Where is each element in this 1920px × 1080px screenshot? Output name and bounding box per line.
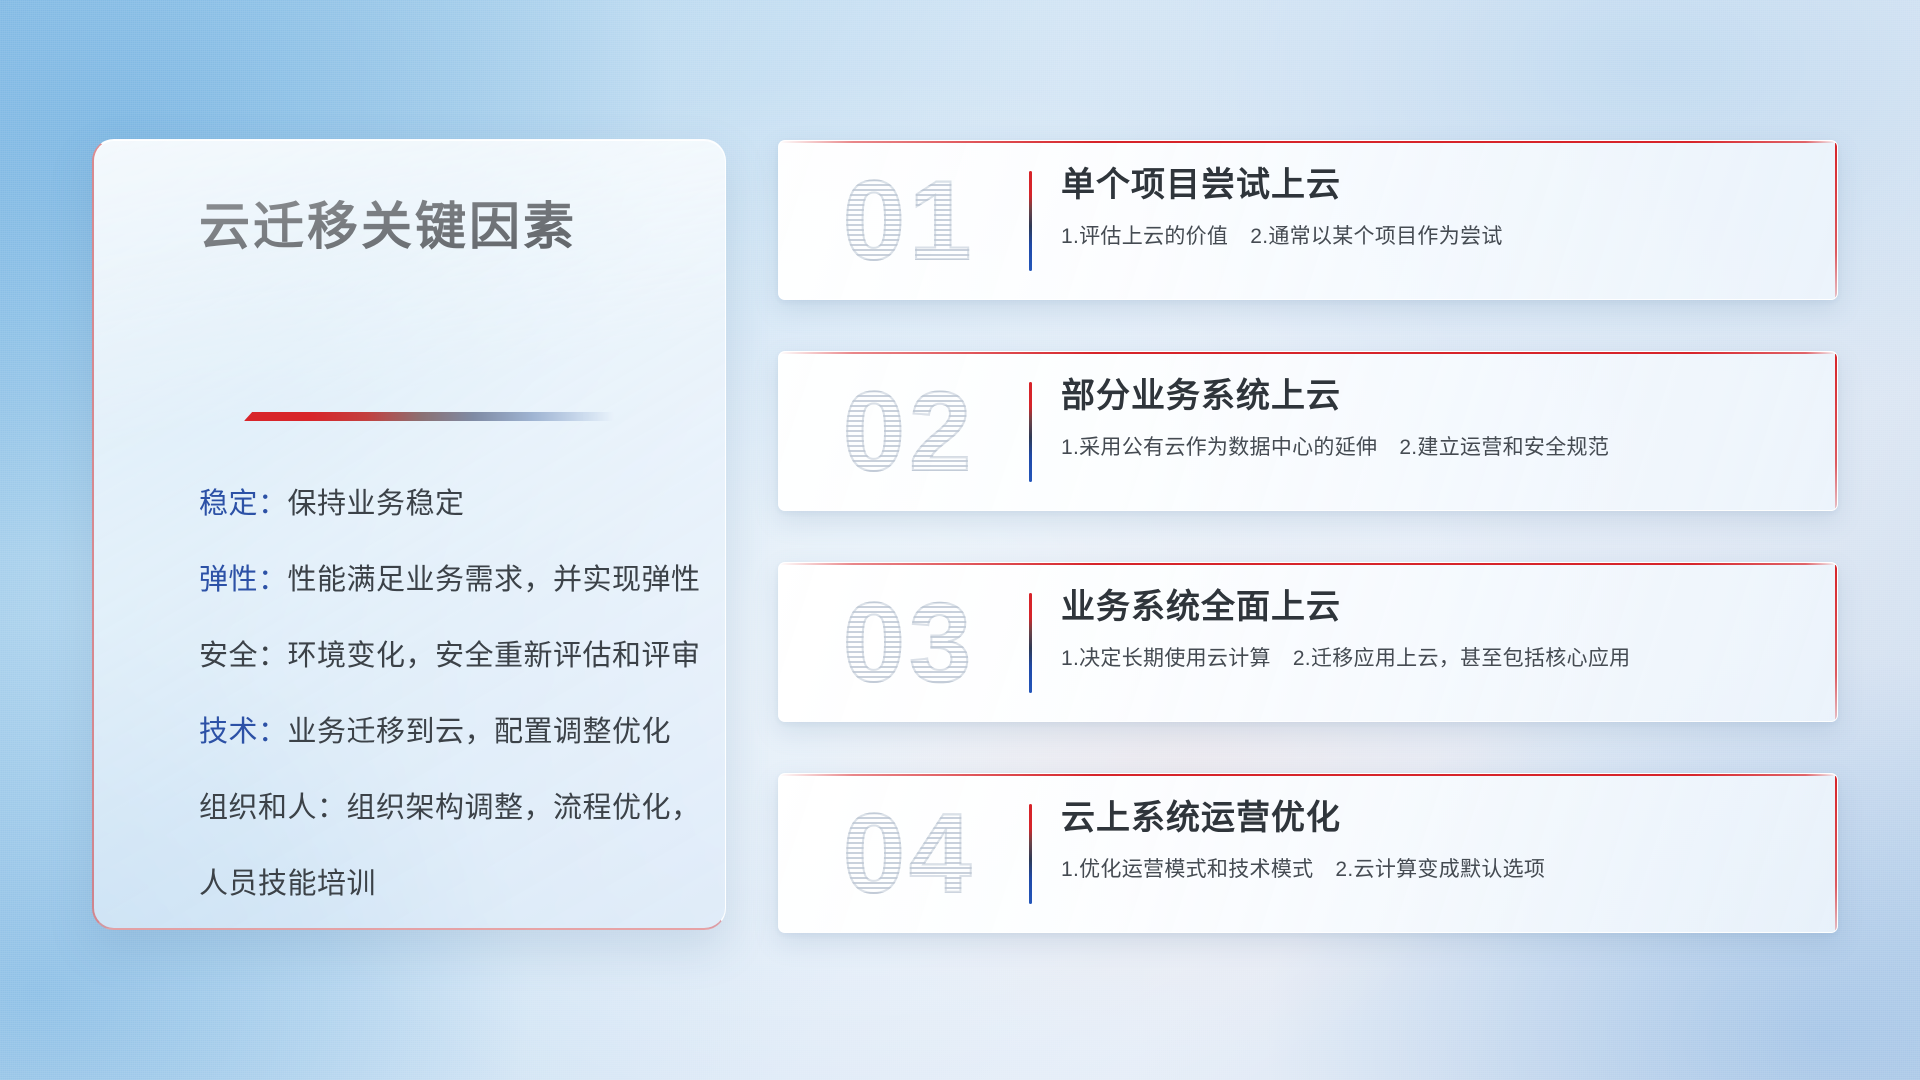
step-description: 1.决定长期使用云计算2.迁移应用上云，甚至包括核心应用 [1061,642,1797,672]
factor-key: 弹性： [199,564,288,596]
step-divider [1029,804,1032,904]
step-divider [1029,171,1032,271]
factor-key: 稳定： [199,488,288,520]
list-item: 稳定：保持业务稳定 [94,490,725,519]
step-divider [1029,593,1032,693]
step-title: 部分业务系统上云 [1061,375,1797,418]
step-number-03: 03 [799,573,1019,713]
page-title: 云迁移关键因素 [199,185,577,259]
step-desc-item-1: 1.采用公有云作为数据中心的延伸 [1061,436,1377,459]
step-title: 业务系统全面上云 [1061,586,1797,629]
list-item: 组织和人：组织架构调整，流程优化， [94,794,725,823]
step-desc-item-2: 2.建立运营和安全规范 [1399,436,1609,459]
step-desc-item-1: 1.决定长期使用云计算 [1061,647,1271,670]
factor-value: 性能满足业务需求，并实现弹性 [288,564,701,596]
step-description: 1.评估上云的价值2.通常以某个项目作为尝试 [1061,220,1797,250]
list-item: 安全：环境变化，安全重新评估和评审 [94,642,725,671]
factor-value: 组织架构调整，流程优化， [347,792,701,824]
step-description: 1.优化运营模式和技术模式2.云计算变成默认选项 [1061,853,1797,883]
step-card-03[interactable]: 03 业务系统全面上云 1.决定长期使用云计算2.迁移应用上云，甚至包括核心应用 [778,562,1838,722]
step-title: 云上系统运营优化 [1061,797,1797,840]
key-factors-list: 稳定：保持业务稳定 弹性：性能满足业务需求，并实现弹性 安全：环境变化，安全重新… [94,490,725,899]
step-content: 云上系统运营优化 1.优化运营模式和技术模式2.云计算变成默认选项 [1061,797,1797,883]
slide-stage: 云迁移关键因素 稳定：保持业务稳定 弹性：性能满足业务需求，并实现弹性 安全：环… [0,0,1920,1080]
step-content: 单个项目尝试上云 1.评估上云的价值2.通常以某个项目作为尝试 [1061,164,1797,250]
factor-value: 环境变化，安全重新评估和评审 [288,640,701,672]
key-factors-panel: 云迁移关键因素 稳定：保持业务稳定 弹性：性能满足业务需求，并实现弹性 安全：环… [92,139,726,930]
factor-value: 人员技能培训 [199,868,376,900]
step-content: 业务系统全面上云 1.决定长期使用云计算2.迁移应用上云，甚至包括核心应用 [1061,586,1797,672]
step-number-04: 04 [799,784,1019,924]
step-desc-item-2: 2.云计算变成默认选项 [1335,858,1545,881]
step-card-01[interactable]: 01 单个项目尝试上云 1.评估上云的价值2.通常以某个项目作为尝试 [778,140,1838,300]
list-item: 技术：业务迁移到云，配置调整优化 [94,718,725,747]
migration-steps-list: 01 单个项目尝试上云 1.评估上云的价值2.通常以某个项目作为尝试 02 部分… [778,140,1838,984]
step-number-02: 02 [799,362,1019,502]
list-item-continuation: 人员技能培训 [94,870,725,899]
factor-key: 组织和人： [199,792,347,824]
step-description: 1.采用公有云作为数据中心的延伸2.建立运营和安全规范 [1061,431,1797,461]
factor-value: 保持业务稳定 [288,488,465,520]
step-card-04[interactable]: 04 云上系统运营优化 1.优化运营模式和技术模式2.云计算变成默认选项 [778,773,1838,933]
step-number-01: 01 [799,151,1019,291]
step-desc-item-1: 1.优化运营模式和技术模式 [1061,858,1313,881]
step-card-02[interactable]: 02 部分业务系统上云 1.采用公有云作为数据中心的延伸2.建立运营和安全规范 [778,351,1838,511]
step-desc-item-2: 2.迁移应用上云，甚至包括核心应用 [1293,647,1631,670]
factor-value: 业务迁移到云，配置调整优化 [288,716,672,748]
step-divider [1029,382,1032,482]
step-content: 部分业务系统上云 1.采用公有云作为数据中心的延伸2.建立运营和安全规范 [1061,375,1797,461]
factor-key: 技术： [199,716,288,748]
step-desc-item-2: 2.通常以某个项目作为尝试 [1250,225,1502,248]
list-item: 弹性：性能满足业务需求，并实现弹性 [94,566,725,595]
title-underline-rule [244,412,614,421]
factor-key: 安全： [199,640,288,672]
step-title: 单个项目尝试上云 [1061,164,1797,207]
step-desc-item-1: 1.评估上云的价值 [1061,225,1228,248]
